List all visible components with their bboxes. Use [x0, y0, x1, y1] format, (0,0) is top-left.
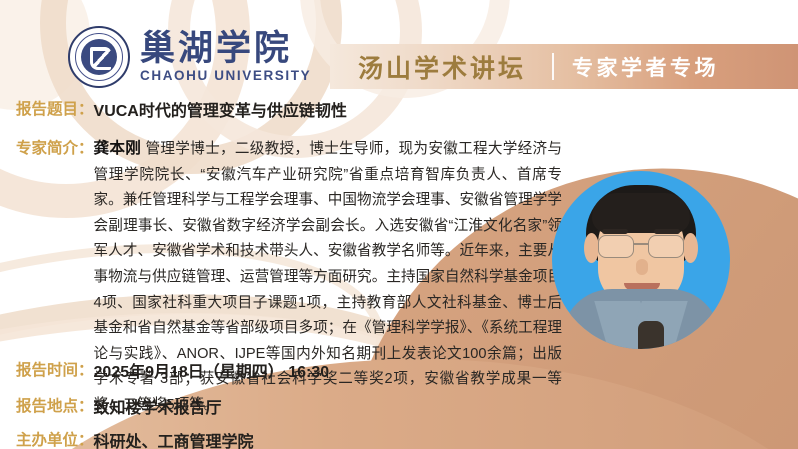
portrait-fringe [592, 193, 690, 233]
university-wordmark: 巢湖学院 CHAOHU UNIVERSITY [140, 31, 311, 83]
lecture-poster: 巢湖学院 CHAOHU UNIVERSITY 汤山学术讲坛 专家学者专场 报告题… [0, 0, 798, 449]
portrait-tie [638, 321, 664, 349]
forum-title: 汤山学术讲坛 [358, 49, 526, 85]
portrait-brow-left [602, 229, 628, 234]
organizer-value: 科研处、工商管理学院 [94, 428, 254, 449]
forum-subtitle: 专家学者专场 [572, 52, 719, 82]
university-name-en: CHAOHU UNIVERSITY [140, 68, 311, 83]
portrait-shirt [562, 289, 720, 349]
portrait-lens-right [648, 235, 684, 258]
report-time-value: 2025年9月18日（星期四） 16:30 [94, 358, 330, 382]
report-title-value: VUCA时代的管理变革与供应链韧性 [94, 97, 347, 121]
organizer-row: 主办单位： 科研处、工商管理学院 [16, 428, 254, 449]
report-title-label: 报告题目： [16, 97, 94, 119]
portrait-nose [636, 259, 648, 275]
banner-divider [552, 53, 554, 80]
speaker-name: 龚本刚 [94, 140, 142, 157]
portrait-glasses-bridge [634, 243, 648, 245]
report-title-row: 报告题目： VUCA时代的管理变革与供应链韧性 [16, 97, 347, 121]
report-time-row: 报告时间： 2025年9月18日（星期四） 16:30 [16, 358, 329, 382]
report-time-label: 报告时间： [16, 358, 94, 380]
portrait-brow-right [654, 229, 680, 234]
forum-banner: 汤山学术讲坛 专家学者专场 [330, 44, 798, 89]
report-place-label: 报告地点： [16, 394, 94, 416]
report-place-row: 报告地点： 致知楼学术报告厅 [16, 394, 222, 418]
university-name-cn: 巢湖学院 [140, 31, 311, 67]
speaker-portrait [552, 171, 730, 349]
portrait-glasses-icon [596, 235, 686, 257]
organizer-label: 主办单位： [16, 428, 94, 449]
university-logo: 巢湖学院 CHAOHU UNIVERSITY [68, 26, 311, 88]
speaker-bio-label: 专家简介： [16, 136, 94, 158]
portrait-lens-left [598, 235, 634, 258]
report-place-value: 致知楼学术报告厅 [94, 394, 222, 418]
seal-core [81, 39, 117, 75]
university-seal-icon [68, 26, 130, 88]
